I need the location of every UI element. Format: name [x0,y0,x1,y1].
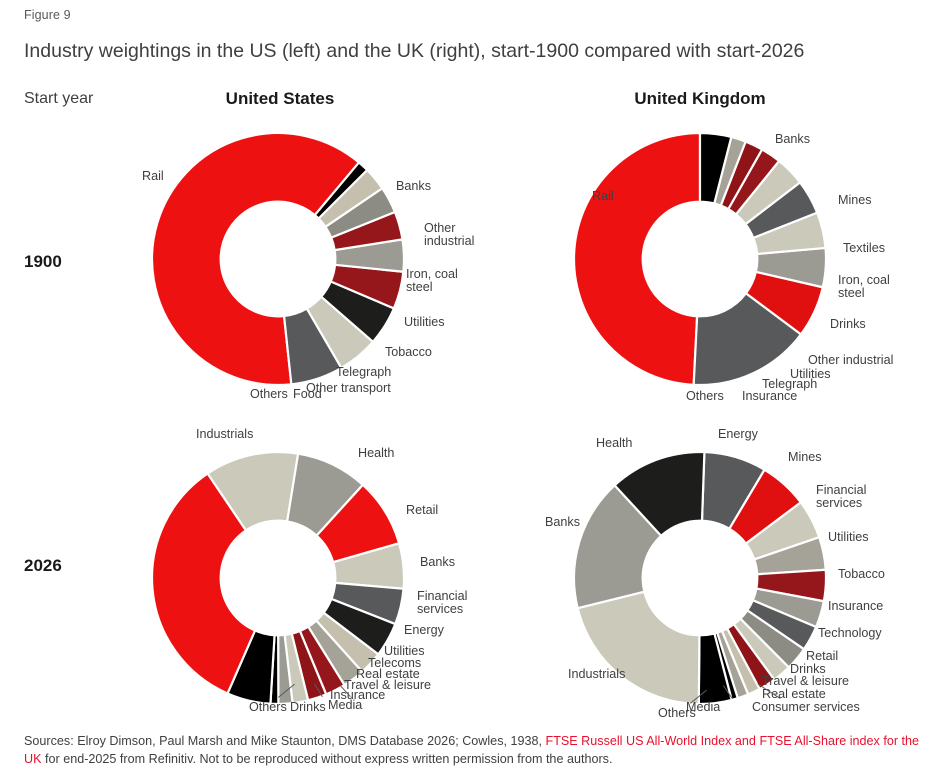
footer-divider [0,725,936,726]
pie-slice-industrials[interactable] [578,592,700,704]
slice-label-utilities: Utilities [828,531,869,544]
slice-label-telegraph: Telegraph [336,366,391,379]
sources-suffix: for end-2025 from Refinitiv. Not to be r… [42,752,613,766]
slice-label-industrials: Industrials [196,428,253,441]
slice-label-textiles: Textiles [843,242,885,255]
sources-note: Sources: Elroy Dimson, Paul Marsh and Mi… [24,733,924,768]
donut-us-1900 [152,133,404,385]
slice-label-drinks: Drinks [830,318,866,331]
slice-label-banks: Banks [775,133,810,146]
slice-label-media: Media [328,699,362,712]
slice-label-others: Others [249,701,287,714]
slice-label-insurance: Insurance [828,600,883,613]
slice-label-retail: Retail [406,504,438,517]
slice-label-food: Food [293,388,322,401]
slice-label-insurance: Insurance [742,390,797,403]
slice-label-energy: Energy [718,428,758,441]
slice-label-iron-coal-steel: Iron, coal steel [838,274,890,301]
slice-label-financial-services: Financial services [417,590,467,617]
slice-label-banks: Banks [396,180,431,193]
slice-label-industrials: Industrials [568,668,625,681]
slice-label-others: Others [658,707,696,720]
slice-label-other-industrial: Other industrial [424,222,474,249]
slice-label-banks: Banks [420,556,455,569]
slice-label-rail: Rail [592,190,614,203]
slice-label-consumer-services: Consumer services [752,701,860,714]
slice-label-technology: Technology [818,627,882,640]
slice-label-energy: Energy [404,624,444,637]
slice-label-others: Others [250,388,288,401]
slice-label-health: Health [596,437,632,450]
slice-label-tobacco: Tobacco [838,568,885,581]
slice-label-utilities: Utilities [404,316,445,329]
slice-label-other-industrial: Other industrial [808,354,893,367]
slice-label-financial-services: Financial services [816,484,866,511]
slice-label-iron-coal-steel: Iron, coal steel [406,268,458,295]
slice-label-banks: Banks [545,516,580,529]
slice-label-drinks: Drinks [290,701,326,714]
slice-label-tobacco: Tobacco [385,346,432,359]
sources-prefix: Sources: Elroy Dimson, Paul Marsh and Mi… [24,734,546,748]
donut-uk-1900 [574,133,826,385]
slice-label-mines: Mines [788,451,822,464]
slice-label-rail: Rail [142,170,164,183]
slice-label-mines: Mines [838,194,872,207]
slice-label-health: Health [358,447,394,460]
slice-label-others: Others [686,390,724,403]
pie-slice-rail[interactable] [574,133,700,385]
